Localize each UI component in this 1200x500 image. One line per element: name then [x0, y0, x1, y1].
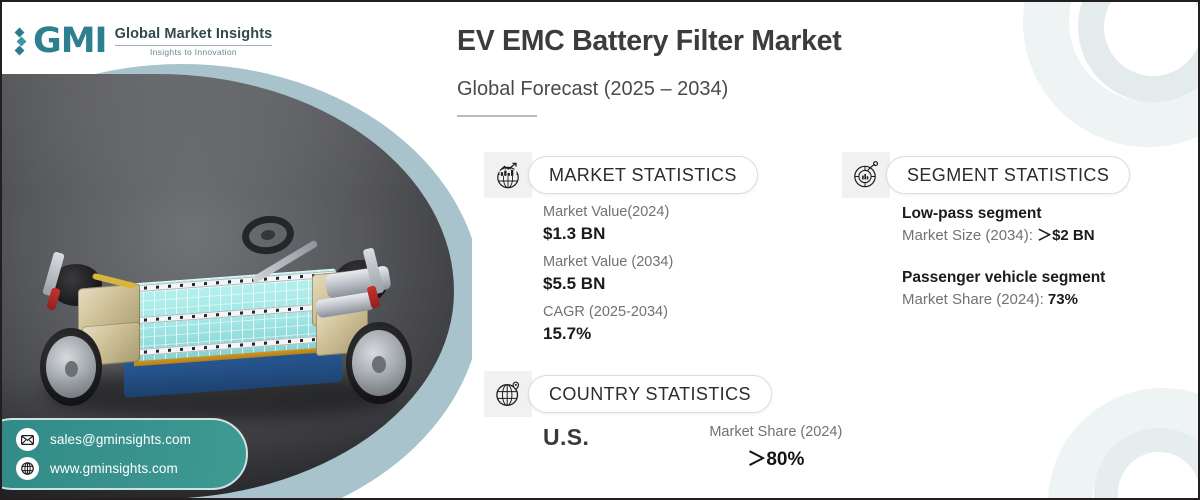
contact-website-row[interactable]: www.gminsights.com [16, 457, 246, 480]
decorative-ring-bottom-right-inner [1094, 428, 1200, 500]
cagr-label: CAGR (2025-2034) [543, 302, 673, 323]
segment-statistics-chip: SEGMENT STATISTICS [886, 156, 1130, 194]
country-share-value: ＞80% [709, 444, 842, 471]
page-title: EV EMC Battery Filter Market [457, 24, 841, 58]
ev-chassis-illustration [16, 200, 436, 440]
decorative-ring-bottom-right-outer [1048, 388, 1200, 500]
market-statistics-header: MARKET STATISTICS [484, 152, 758, 198]
country-statistics-body: U.S. Market Share (2024) ＞80% [543, 424, 842, 471]
infographic-canvas: sales@gminsights.com www.gminsights.com … [0, 0, 1200, 500]
logo-wordmark: Global Market Insights Insights to Innov… [115, 26, 273, 57]
globe-icon [16, 457, 39, 480]
decorative-ring-top-right-outer [1023, 0, 1200, 147]
decorative-ring-top-right-inner [1078, 0, 1200, 102]
market-value-2034-label: Market Value (2034) [543, 252, 673, 273]
contact-email-text: sales@gminsights.com [50, 432, 191, 447]
segment-1-metric-label: Market Size (2034): [902, 227, 1037, 244]
logo-company-name: Global Market Insights [115, 26, 273, 43]
logo-divider [115, 45, 273, 46]
market-statistics-chip: MARKET STATISTICS [528, 156, 758, 194]
segment-statistics-body: Low-pass segment Market Size (2034): ＞$2… [902, 202, 1105, 312]
hero-image-panel: sales@gminsights.com www.gminsights.com [2, 2, 472, 500]
title-underline [457, 115, 537, 117]
contact-pill: sales@gminsights.com www.gminsights.com [2, 418, 248, 490]
segment-statistics-heading: SEGMENT STATISTICS [907, 165, 1109, 186]
segment-2-metric-value: 73% [1048, 291, 1078, 308]
envelope-icon [16, 428, 39, 451]
country-name: U.S. [543, 424, 589, 451]
page-subtitle: Global Forecast (2025 – 2034) [457, 78, 841, 101]
donut-chart-arrow-icon [842, 152, 890, 198]
country-statistics-chip: COUNTRY STATISTICS [528, 375, 772, 413]
country-statistics-heading: COUNTRY STATISTICS [549, 384, 751, 405]
logo-diamond-mark-icon [16, 29, 25, 54]
logo-tagline: Insights to Innovation [115, 47, 273, 57]
wheel-rim-front-left [46, 336, 96, 398]
steering-wheel [240, 213, 297, 258]
segment-2-metric-label: Market Share (2024): [902, 291, 1048, 308]
globe-bar-chart-icon [484, 152, 532, 198]
cagr-value: 15.7% [543, 323, 673, 346]
market-value-2024-label: Market Value(2024) [543, 202, 673, 223]
globe-pin-icon [484, 371, 532, 417]
contact-website-text: www.gminsights.com [50, 461, 178, 476]
country-share-block: Market Share (2024) ＞80% [709, 424, 842, 471]
brand-logo[interactable]: GMI Global Market Insights Insights to I… [16, 24, 272, 59]
contact-email-row[interactable]: sales@gminsights.com [16, 428, 246, 451]
country-statistics-header: COUNTRY STATISTICS [484, 371, 772, 417]
country-share-label: Market Share (2024) [709, 424, 842, 440]
market-statistics-body: Market Value(2024) $1.3 BN Market Value … [543, 202, 673, 352]
market-value-2034-value: $5.5 BN [543, 273, 673, 296]
segment-2-title: Passenger vehicle segment [902, 266, 1105, 289]
segment-1-title: Low-pass segment [902, 202, 1105, 225]
header-block: EV EMC Battery Filter Market Global Fore… [457, 24, 841, 117]
market-statistics-heading: MARKET STATISTICS [549, 165, 737, 186]
segment-2-metric-row: Market Share (2024): 73% [902, 289, 1105, 312]
segment-statistics-header: SEGMENT STATISTICS [842, 152, 1130, 198]
segment-1-metric-row: Market Size (2034): ＞$2 BN [902, 225, 1105, 248]
segment-spacer [902, 248, 1105, 266]
wheel-rim-front-right [352, 330, 406, 396]
segment-1-metric-value: ＞$2 BN [1037, 227, 1095, 244]
battery-pack [132, 269, 336, 362]
logo-initials: GMI [33, 24, 107, 59]
market-value-2024-value: $1.3 BN [543, 223, 673, 246]
